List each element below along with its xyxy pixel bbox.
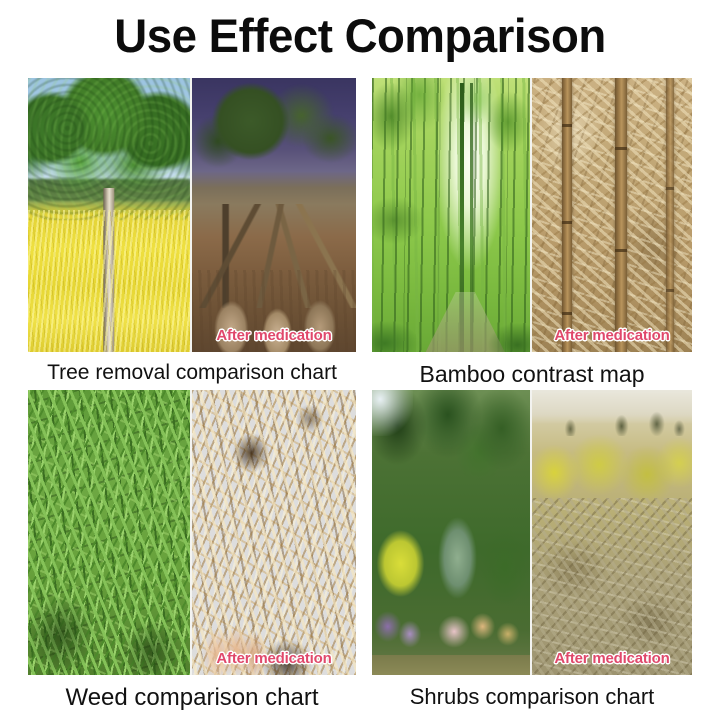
image-pair: After medication [372,390,692,675]
after-image-bamboo: After medication [532,78,692,352]
image-pair: After medication [28,78,356,352]
comparison-panel-bamboo: After medication Bamboo contrast map [372,78,692,388]
before-image-shrubs [372,390,532,675]
image-pair: After medication [28,390,356,675]
comparison-panel-tree-removal: After medication Tree removal comparison… [28,78,356,385]
use-effect-comparison-poster: Use Effect Comparison After medication [0,0,720,720]
after-image-weed: After medication [192,390,356,675]
image-pair: After medication [372,78,692,352]
comparison-panel-weed: After medication Weed comparison chart [28,390,356,712]
after-image-tree: After medication [192,78,356,352]
panel-caption-weed: Weed comparison chart [28,684,356,712]
before-image-bamboo [372,78,532,352]
page-title: Use Effect Comparison [11,8,709,63]
panel-caption-bamboo: Bamboo contrast map [372,361,692,388]
before-image-tree [28,78,192,352]
panel-caption-shrubs: Shrubs comparison chart [372,684,692,710]
before-image-weed [28,390,192,675]
comparison-panel-shrubs: After medication Shrubs comparison chart [372,390,692,710]
panel-caption-tree-removal: Tree removal comparison chart [28,361,356,385]
after-image-shrubs: After medication [532,390,692,675]
